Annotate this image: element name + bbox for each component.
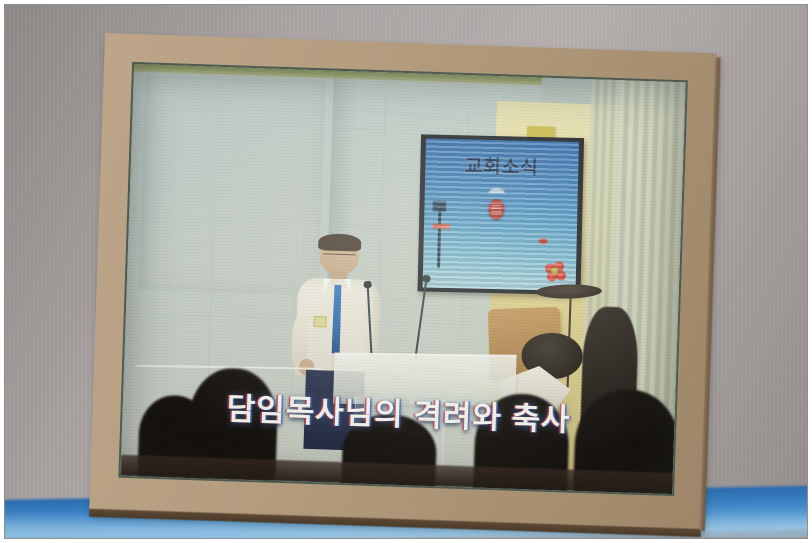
slide-bird-icon: [489, 187, 505, 192]
slide-content: 교회소식: [422, 138, 578, 290]
screenshot-root: 교회소식: [0, 0, 812, 543]
frame-inner-opening: 교회소식: [118, 62, 687, 496]
slide-signpost-pole-icon: [437, 208, 441, 267]
slide-flower-icon: [545, 261, 565, 281]
slide-title: 교회소식: [425, 150, 578, 180]
photo-outer-border: 교회소식: [4, 4, 808, 539]
projected-scene: 교회소식: [120, 64, 685, 494]
slide-red-accent: [433, 223, 450, 228]
speaker-collar-left: [323, 278, 330, 292]
speaker-hair: [318, 233, 362, 252]
projection-screen: 교회소식: [417, 134, 583, 294]
wooden-frame: 교회소식: [89, 33, 717, 531]
speaker-name-badge: [314, 316, 327, 327]
picture-frame-wrapper: 교회소식: [89, 33, 717, 531]
slide-flower-bud-icon: [538, 237, 547, 243]
glasses-icon: [322, 253, 356, 260]
speaker-collar-right: [344, 279, 351, 293]
slide-seal-icon: [488, 199, 504, 220]
